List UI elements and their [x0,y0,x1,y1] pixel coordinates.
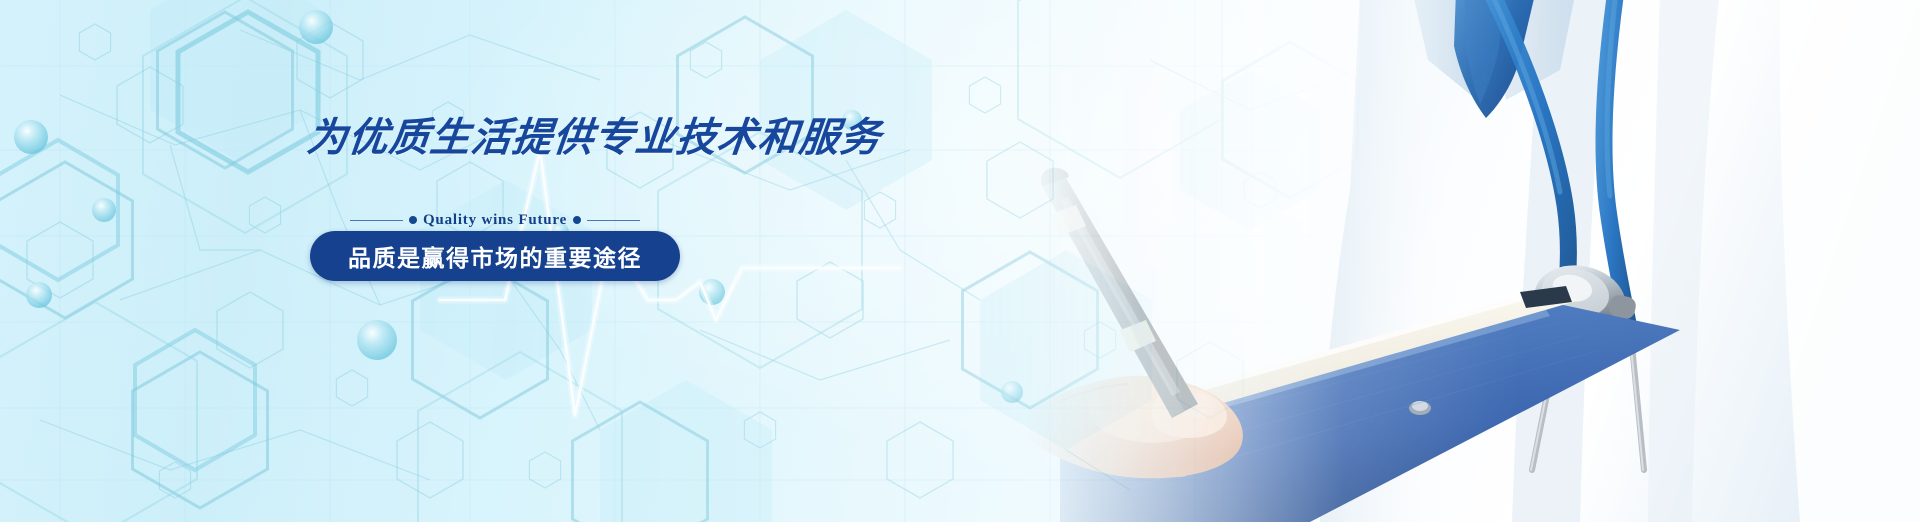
english-tagline: Quality wins Future [423,212,567,229]
page-title: 为优质生活提供专业技术和服务 [305,118,869,158]
tagline-dot-left [409,216,417,224]
hero-text-block: 为优质生活提供专业技术和服务 Quality wins Future 品质是赢得… [305,118,865,158]
tagline-dot-right [573,216,581,224]
healthcare-hero-banner: 为优质生活提供专业技术和服务 Quality wins Future 品质是赢得… [0,0,1920,522]
doctor-illustration [1020,0,1920,522]
tagline-rule-left [350,220,403,221]
english-tagline-row: Quality wins Future [350,210,640,230]
slogan-pill-button[interactable]: 品质是赢得市场的重要途径 [310,231,680,281]
slogan-pill-label: 品质是赢得市场的重要途径 [348,239,642,273]
tagline-rule-right [587,220,640,221]
doctor-photo [1020,0,1920,522]
